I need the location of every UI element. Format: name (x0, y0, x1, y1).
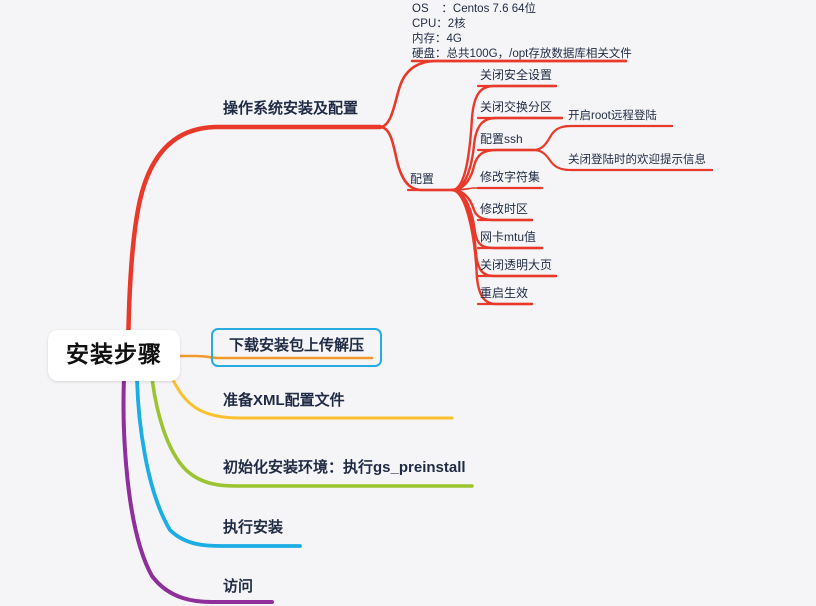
node-close-thp-label: 关闭透明大页 (480, 258, 552, 273)
branch-node-init-env-label: 初始化安装环境：执行gs_preinstall (223, 459, 466, 478)
branch-node-run-install[interactable]: 执行安装 (223, 519, 283, 538)
node-nic-mtu-label: 网卡mtu值 (480, 230, 536, 245)
spec-line-memory: 内存：4G (412, 32, 632, 47)
node-reboot-apply[interactable]: 重启生效 (480, 286, 528, 301)
node-enable-root-remote[interactable]: 开启root远程登陆 (568, 109, 657, 123)
node-reboot-apply-label: 重启生效 (480, 286, 528, 301)
node-close-welcome-msg-label: 关闭登陆时的欢迎提示信息 (568, 153, 706, 167)
node-close-swap[interactable]: 关闭交换分区 (480, 100, 552, 115)
node-charset-label: 修改字符集 (480, 170, 540, 185)
link-root-to-access (124, 378, 272, 602)
branch-node-run-install-label: 执行安装 (223, 519, 283, 538)
root-node[interactable]: 安装步骤 (48, 330, 180, 381)
node-close-security[interactable]: 关闭安全设置 (480, 68, 552, 83)
node-close-thp[interactable]: 关闭透明大页 (480, 258, 552, 273)
branch-node-access[interactable]: 访问 (223, 578, 253, 597)
link-config-to-charset (452, 188, 542, 190)
node-close-swap-label: 关闭交换分区 (480, 100, 552, 115)
node-close-security-label: 关闭安全设置 (480, 68, 552, 83)
link-ssh-to-enable-root (534, 126, 672, 150)
node-close-welcome-msg[interactable]: 关闭登陆时的欢迎提示信息 (568, 153, 706, 167)
spec-line-disk: 硬盘：总共100G，/opt存放数据库相关文件 (412, 47, 632, 62)
spec-line-os: OS ：Centos 7.6 64位 (412, 2, 632, 17)
node-timezone[interactable]: 修改时区 (480, 202, 528, 217)
node-config-ssh-label: 配置ssh (480, 132, 523, 147)
node-config-label: 配置 (410, 172, 434, 187)
node-os-spec[interactable]: OS ：Centos 7.6 64位 CPU：2核 内存：4G 硬盘：总共100… (412, 2, 632, 62)
branch-node-os-install-label: 操作系统安装及配置 (223, 100, 358, 119)
node-enable-root-remote-label: 开启root远程登陆 (568, 109, 657, 123)
branch-node-download-package[interactable]: 下载安装包上传解压 (211, 328, 382, 367)
root-node-label: 安装步骤 (66, 340, 162, 369)
branch-node-download-package-label: 下载安装包上传解压 (229, 337, 364, 356)
node-config-ssh[interactable]: 配置ssh (480, 132, 523, 147)
node-timezone-label: 修改时区 (480, 202, 528, 217)
branch-node-prepare-xml[interactable]: 准备XML配置文件 (223, 392, 345, 411)
mindmap-canvas: 安装步骤 操作系统安装及配置 OS ：Centos 7.6 64位 CPU：2核… (0, 0, 816, 606)
mindmap-connectors (0, 0, 816, 606)
node-config[interactable]: 配置 (410, 172, 434, 187)
branch-node-access-label: 访问 (223, 578, 253, 597)
branch-node-prepare-xml-label: 准备XML配置文件 (223, 392, 345, 411)
spec-line-cpu: CPU：2核 (412, 17, 632, 32)
node-charset[interactable]: 修改字符集 (480, 170, 540, 185)
branch-node-os-install[interactable]: 操作系统安装及配置 (223, 100, 358, 119)
branch-node-init-env[interactable]: 初始化安装环境：执行gs_preinstall (223, 459, 466, 478)
node-nic-mtu[interactable]: 网卡mtu值 (480, 230, 536, 245)
